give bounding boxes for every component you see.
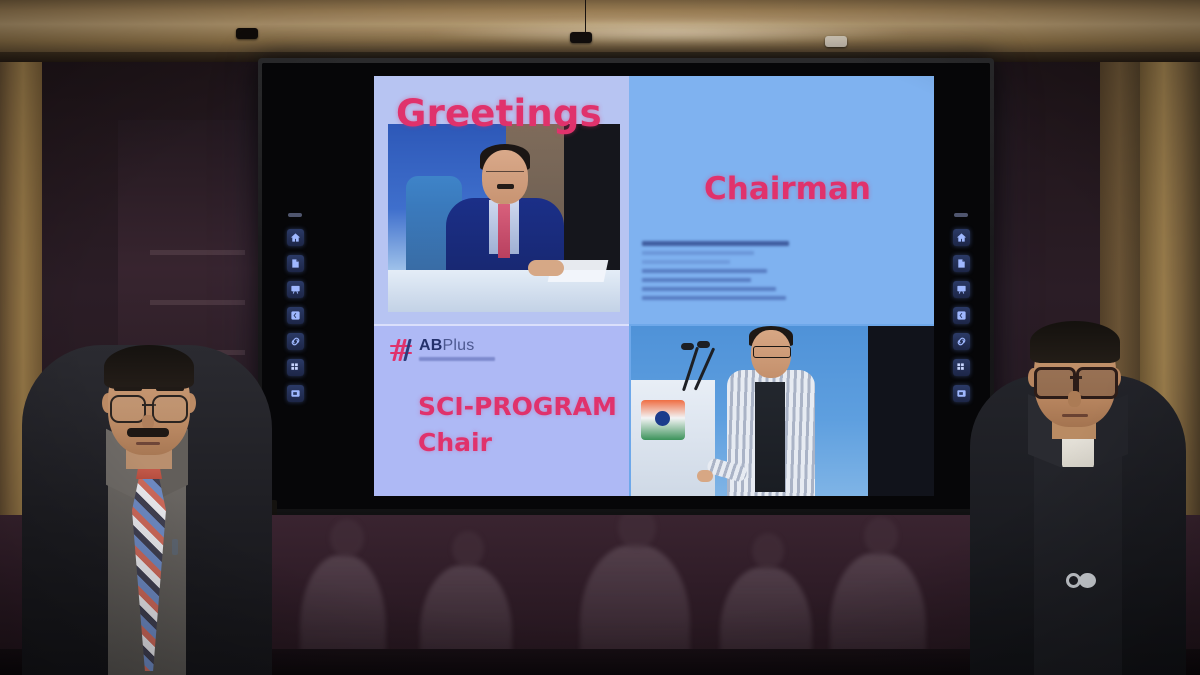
microphone-head-icon [681, 343, 694, 350]
person-right [960, 255, 1190, 675]
ceiling-spotlight-icon [236, 28, 258, 39]
person-left-nose [142, 415, 154, 429]
display-screen[interactable]: Greetings Chairman ABPlus [262, 63, 990, 509]
logo-light: Plus [443, 337, 475, 354]
person-left-eyebrow [156, 387, 184, 391]
drag-handle[interactable] [954, 213, 968, 217]
audience-head [752, 533, 784, 569]
link-icon[interactable] [287, 333, 304, 350]
audience-head [618, 515, 656, 549]
interactive-display[interactable]: Greetings Chairman ABPlus [258, 58, 994, 520]
logo-tagline [419, 357, 495, 361]
chairman-tie [498, 204, 510, 258]
presentation-slide: Greetings Chairman ABPlus [374, 76, 934, 496]
home-icon[interactable] [953, 229, 970, 246]
home-icon[interactable] [287, 229, 304, 246]
logo-text: ABPlus [419, 338, 495, 361]
hash-grid-icon [390, 339, 412, 361]
drag-handle[interactable] [288, 213, 302, 217]
slide-divider [374, 324, 629, 326]
photo-dark-edge [868, 326, 934, 496]
display-bezel: Greetings Chairman ABPlus [262, 63, 990, 509]
speaker-glasses-icon [753, 346, 791, 358]
chairman-moustache [497, 184, 514, 189]
chairman-glasses-icon [486, 171, 524, 180]
input-source-icon[interactable] [287, 307, 304, 324]
ceiling-spotlight-icon [570, 32, 592, 43]
person-left-mouth [136, 442, 160, 445]
apps-grid-icon[interactable] [287, 359, 304, 376]
speaker-hand [697, 470, 713, 482]
logo-bold: AB [419, 337, 443, 354]
photo-backdrop-dark [564, 124, 620, 274]
note-icon[interactable] [287, 255, 304, 272]
person-right-glasses-icon [1034, 367, 1118, 393]
slide-chairman-heading: Chairman [704, 171, 871, 207]
person-left-pocket-pen [172, 539, 178, 555]
logo-name: ABPlus [419, 338, 495, 354]
speaker-shirt [755, 382, 785, 492]
slide-sci-program-line1: SCI-PROGRAM [418, 392, 617, 421]
conference-room-scene: Greetings Chairman ABPlus [0, 0, 1200, 675]
audience-head [452, 531, 484, 567]
slide-title: Greetings [396, 92, 602, 135]
slide-sci-program-line2: Chair [418, 428, 492, 457]
person-left-moustache [127, 428, 169, 437]
person-right-mouth [1062, 414, 1088, 417]
person-right-badge-icon [1066, 572, 1098, 589]
person-right-hair [1030, 321, 1120, 363]
chairman-hand [528, 260, 564, 276]
speaker-podium-photo: Activate Windows Go to Settings to activ… [631, 326, 934, 496]
ceiling-spotlight-icon [825, 36, 847, 47]
audience-head [864, 517, 898, 555]
ab-plus-logo: ABPlus [390, 338, 495, 361]
display-toolbar-left[interactable] [282, 213, 308, 402]
chairman-portrait [388, 124, 620, 312]
whiteboard-icon[interactable] [287, 281, 304, 298]
audience-head [330, 519, 364, 557]
person-left-hair [104, 345, 194, 389]
ceiling-wire [585, 0, 586, 34]
person-left [22, 245, 272, 675]
microphone-head-icon [697, 341, 710, 348]
screen-capture-icon[interactable] [287, 385, 304, 402]
podium-emblem-wheel-icon [655, 411, 670, 426]
slide-chairman-body-text [642, 241, 802, 305]
person-right-nose [1068, 391, 1081, 407]
person-left-eyebrow [114, 387, 142, 391]
